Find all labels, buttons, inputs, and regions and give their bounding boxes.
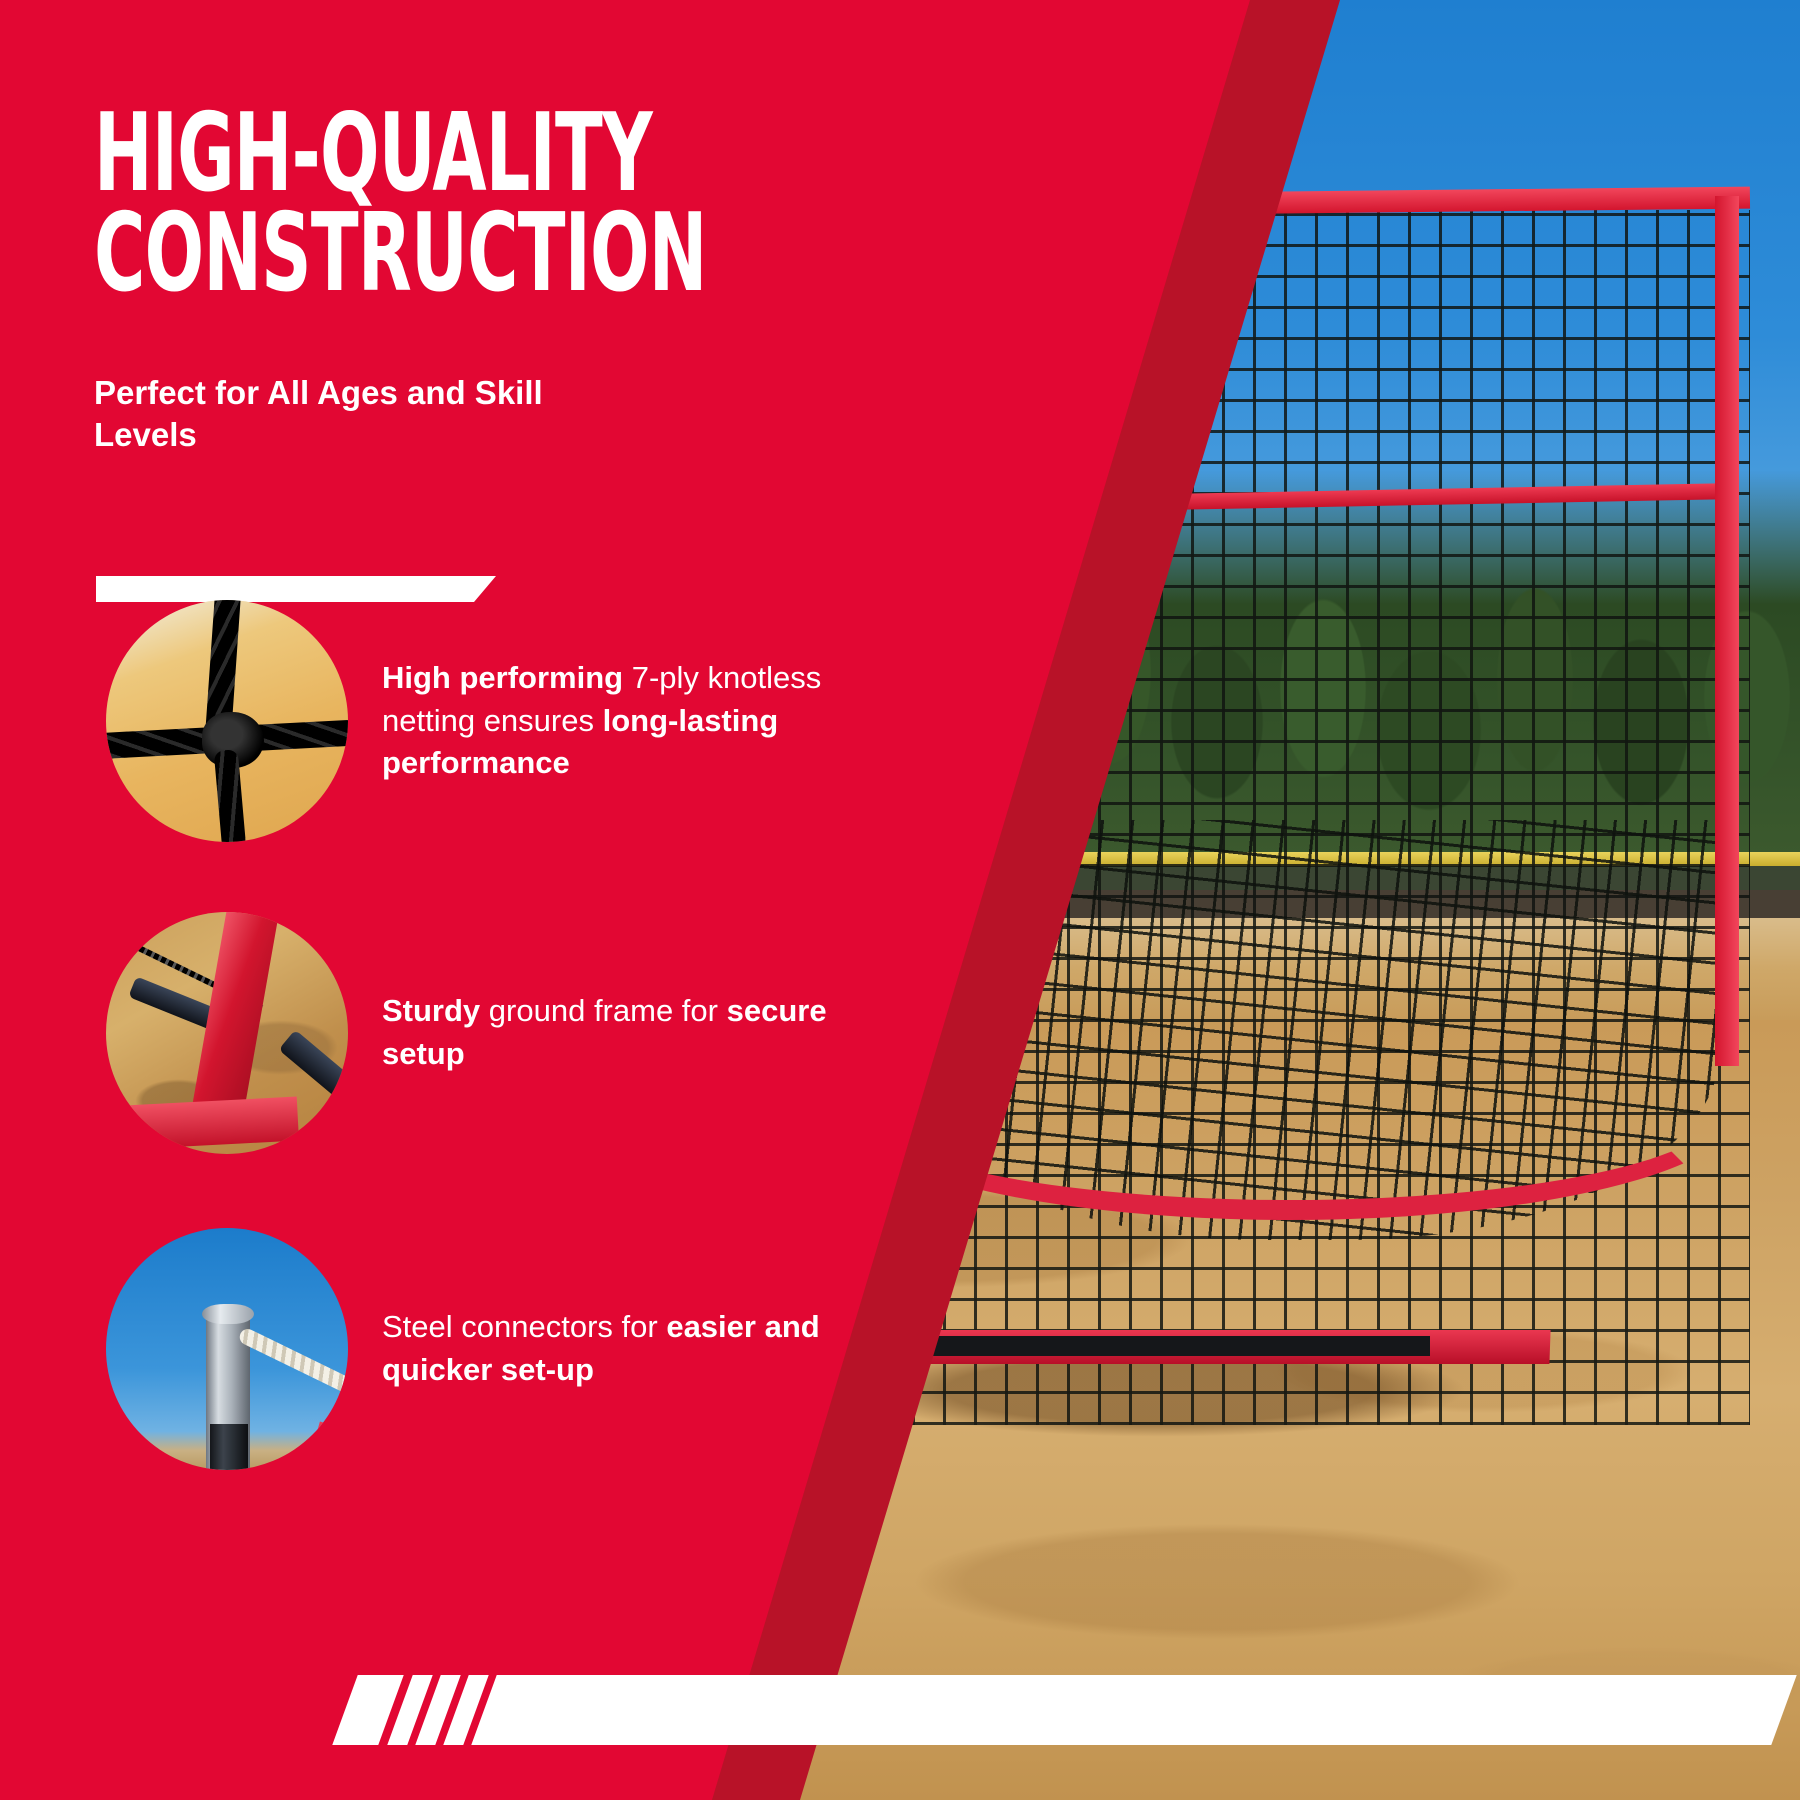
feature-text: High performing 7-ply knotless netting e… <box>382 657 852 785</box>
feature-row: Steel connectors for easier and quicker … <box>0 1228 900 1470</box>
net-frame-right-post <box>1715 196 1739 1066</box>
page-title: HIGH-QUALITY CONSTRUCTION <box>94 104 598 305</box>
tie-rope <box>237 1326 348 1397</box>
steel-pole-cap <box>202 1304 254 1324</box>
accent-bar-long <box>471 1675 1796 1745</box>
net-frame-bottom-curve <box>840 1000 1740 1220</box>
headline-underline-bar <box>96 576 496 602</box>
page-subtitle: Perfect for All Ages and Skill Levels <box>94 372 654 456</box>
red-strap-horizontal <box>106 1097 299 1152</box>
ground-frame-stake-closeup-photo <box>106 912 348 1154</box>
feature-text: Sturdy ground frame for secure setup <box>382 990 852 1076</box>
feature-row: High performing 7-ply knotless netting e… <box>0 600 900 842</box>
feature-row: Sturdy ground frame for secure setup <box>0 912 900 1154</box>
net-mesh-upper <box>850 210 1750 1425</box>
infographic-canvas: HIGH-QUALITY CONSTRUCTION Perfect for Al… <box>0 0 1800 1800</box>
page-title-line-2: CONSTRUCTION <box>94 204 598 304</box>
black-pole-section <box>210 1424 248 1470</box>
red-strap-corner <box>306 1421 348 1470</box>
feature-text: Steel connectors for easier and quicker … <box>382 1306 852 1392</box>
knotless-netting-closeup-photo <box>106 600 348 842</box>
page-title-line-1: HIGH-QUALITY <box>94 104 598 204</box>
net-frame-ground-bar-inner <box>870 1336 1430 1356</box>
bottom-accent-bar <box>0 1657 900 1767</box>
left-content: HIGH-QUALITY CONSTRUCTION Perfect for Al… <box>0 0 900 1800</box>
steel-connector-closeup-photo <box>106 1228 348 1470</box>
